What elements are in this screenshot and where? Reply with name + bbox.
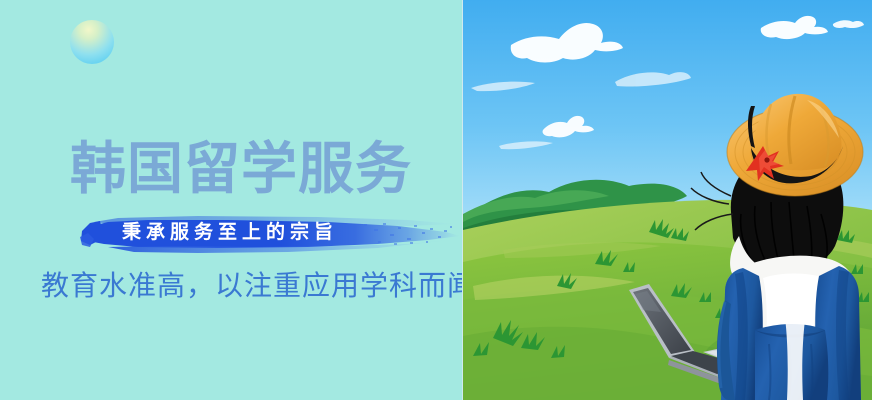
hero-illustration bbox=[463, 0, 872, 400]
tagline: 秉承服务至上的宗旨 bbox=[122, 220, 338, 246]
subtitle: 教育水准高，以注重应用学科而闻名 bbox=[41, 269, 463, 303]
promo-banner: 韩国留学服务 bbox=[0, 0, 872, 400]
left-text-panel: 韩国留学服务 bbox=[0, 0, 463, 400]
page-title: 韩国留学服务 bbox=[70, 141, 450, 197]
gradient-orb-logo-icon bbox=[70, 20, 114, 64]
